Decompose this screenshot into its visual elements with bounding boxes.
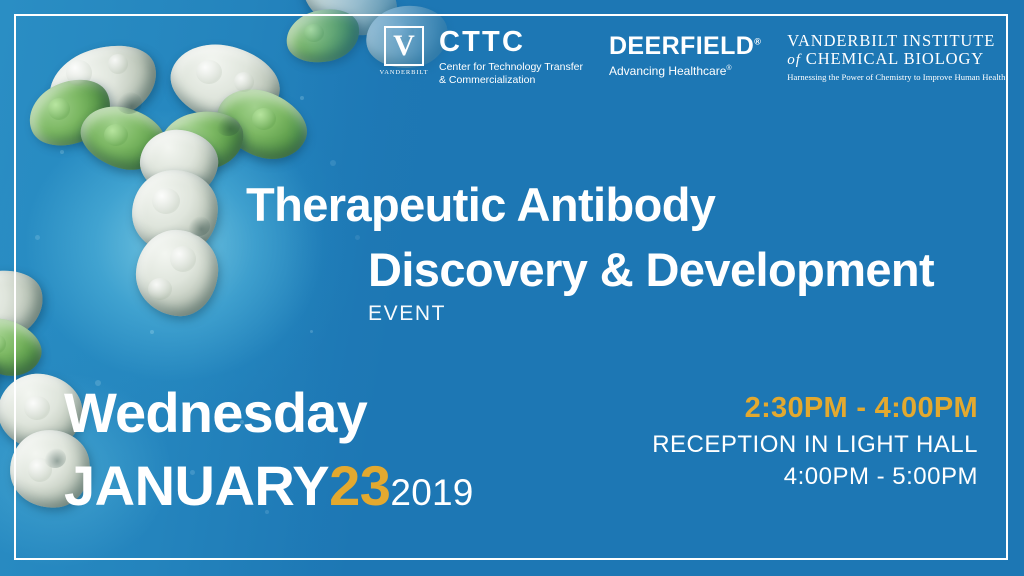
event-date-line: JANUARY232019 bbox=[64, 458, 474, 514]
vanderbilt-v-glyph: V bbox=[393, 31, 415, 61]
deerfield-tagline-mark: ® bbox=[726, 65, 731, 72]
deerfield-tagline: Advancing Healthcare® bbox=[609, 64, 761, 78]
event-weekday: Wednesday bbox=[64, 385, 367, 441]
event-title-kicker: EVENT bbox=[368, 303, 446, 324]
deerfield-name-text: DEERFIELD bbox=[609, 32, 754, 60]
vicb-line2: of CHEMICAL BIOLOGY bbox=[787, 50, 1010, 69]
event-day-number: 23 bbox=[329, 454, 390, 517]
vanderbilt-v-box: V bbox=[384, 26, 424, 66]
vicb-tagline: Harnessing the Power of Chemistry to Imp… bbox=[787, 72, 1010, 82]
deerfield-registered-mark: ® bbox=[754, 37, 761, 47]
vanderbilt-v-icon: V VANDERBILT bbox=[378, 26, 430, 82]
event-title-line1: Therapeutic Antibody bbox=[246, 181, 715, 228]
deerfield-tagline-text: Advancing Healthcare bbox=[609, 64, 726, 78]
event-month: JANUARY bbox=[64, 454, 329, 517]
deerfield-logo: DEERFIELD® Advancing Healthcare® bbox=[609, 26, 761, 78]
cttc-name-line2: & Commercialization bbox=[439, 74, 583, 87]
vicb-line1: VANDERBILT INSTITUTE bbox=[787, 32, 1010, 50]
event-time-main: 2:30PM - 4:00PM bbox=[652, 392, 978, 425]
event-year: 2019 bbox=[390, 472, 473, 513]
cttc-acronym: CTTC bbox=[439, 28, 583, 57]
cttc-logo: V VANDERBILT CTTC Center for Technology … bbox=[378, 26, 583, 87]
vicb-line2-text: CHEMICAL BIOLOGY bbox=[806, 49, 984, 68]
vicb-logo: VANDERBILT INSTITUTE of CHEMICAL BIOLOGY… bbox=[787, 26, 1010, 82]
event-title-line2: Discovery & Development bbox=[368, 246, 934, 293]
event-reception-time: 4:00PM - 5:00PM bbox=[652, 461, 978, 492]
deerfield-name: DEERFIELD® bbox=[609, 34, 761, 59]
sponsor-logo-bar: V VANDERBILT CTTC Center for Technology … bbox=[378, 26, 1010, 92]
event-reception-venue: RECEPTION IN LIGHT HALL bbox=[652, 429, 978, 460]
event-poster: V VANDERBILT CTTC Center for Technology … bbox=[0, 0, 1024, 576]
vanderbilt-wordmark: VANDERBILT bbox=[379, 69, 428, 76]
event-time-block: 2:30PM - 4:00PM RECEPTION IN LIGHT HALL … bbox=[652, 392, 978, 492]
cttc-name-line1: Center for Technology Transfer bbox=[439, 61, 583, 74]
cttc-logo-text: CTTC Center for Technology Transfer & Co… bbox=[439, 26, 583, 87]
vicb-of-word: of bbox=[787, 52, 800, 68]
